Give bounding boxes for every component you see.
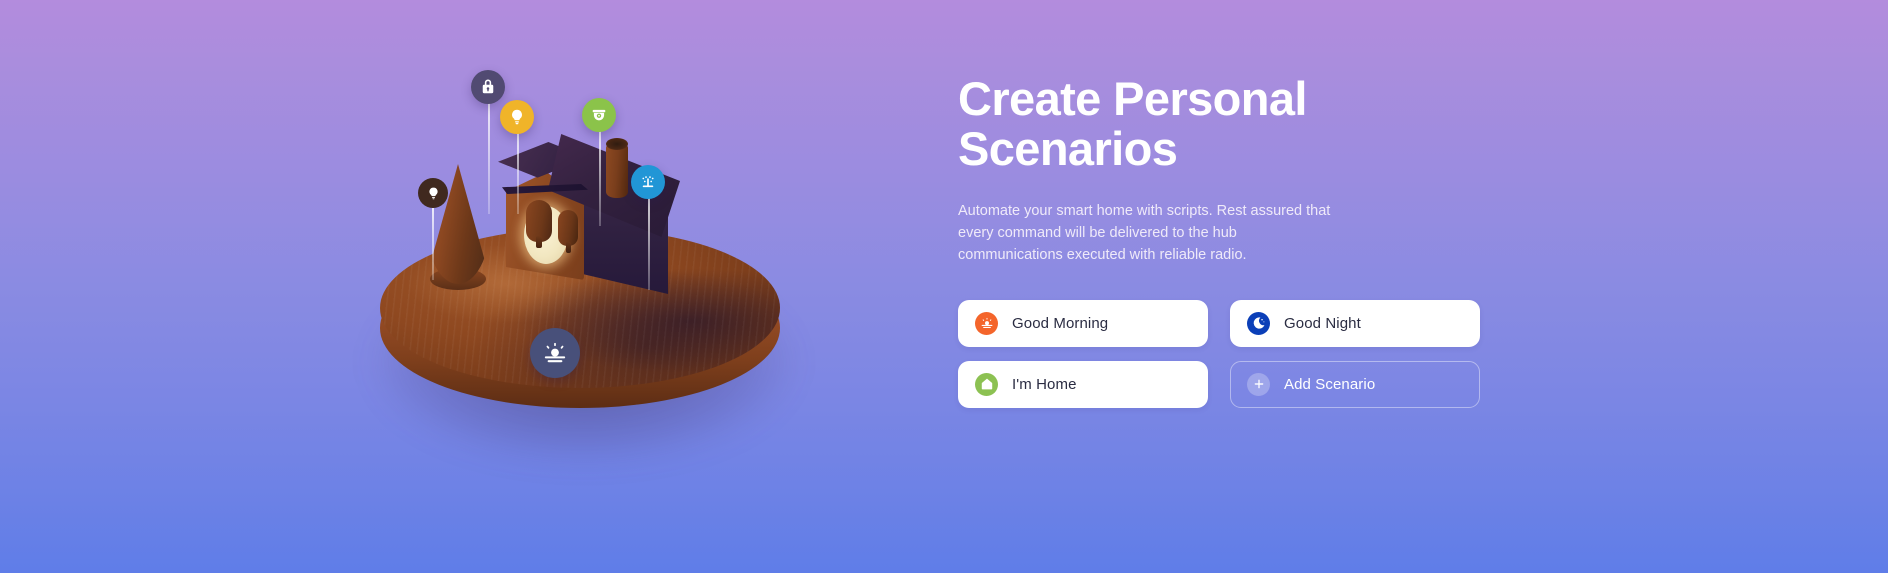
scenario-add[interactable]: Add Scenario bbox=[1230, 361, 1480, 408]
scenario-label: Good Night bbox=[1284, 315, 1361, 332]
scenario-label: Add Scenario bbox=[1284, 376, 1375, 393]
plus-icon bbox=[1247, 373, 1270, 396]
lock-icon bbox=[479, 78, 497, 96]
moon-icon bbox=[1247, 312, 1270, 335]
bush-large-trunk bbox=[536, 236, 542, 248]
scenario-good-night[interactable]: Good Night bbox=[1230, 300, 1480, 347]
house-icon bbox=[975, 373, 998, 396]
scenario-im-home[interactable]: I'm Home bbox=[958, 361, 1208, 408]
hero-section: Create Personal Scenarios Automate your … bbox=[0, 0, 1888, 573]
marker-smart-light[interactable] bbox=[500, 100, 534, 134]
marker-stem-treebulb bbox=[432, 208, 434, 280]
page-title: Create Personal Scenarios bbox=[958, 74, 1518, 174]
wifi-hub-icon bbox=[639, 173, 657, 191]
bulb-icon bbox=[426, 186, 441, 201]
scenario-label: I'm Home bbox=[1012, 376, 1077, 393]
bush-small bbox=[558, 210, 578, 246]
chimney bbox=[606, 142, 628, 198]
scenario-list: Good Morning Good Night bbox=[958, 300, 1480, 408]
sunrise-icon bbox=[975, 312, 998, 335]
camera-icon bbox=[590, 106, 608, 124]
marker-door-lock[interactable] bbox=[471, 70, 505, 104]
marker-garden-light[interactable] bbox=[418, 178, 448, 208]
bush-small-trunk bbox=[566, 242, 571, 253]
page-subtitle: Automate your smart home with scripts. R… bbox=[958, 200, 1340, 266]
marker-stem-bulb bbox=[517, 132, 519, 214]
smart-home-illustration bbox=[380, 48, 800, 448]
scenario-good-morning[interactable]: Good Morning bbox=[958, 300, 1208, 347]
marker-stem-camera bbox=[599, 130, 601, 226]
marker-stem-lock bbox=[488, 102, 490, 214]
bulb-icon bbox=[508, 108, 526, 126]
marker-security-camera[interactable] bbox=[582, 98, 616, 132]
chimney-opening bbox=[606, 138, 628, 150]
marker-morning-scenario[interactable] bbox=[530, 328, 580, 378]
marker-stem-wifi bbox=[648, 196, 650, 290]
illustration-scene bbox=[380, 48, 800, 448]
marker-hub[interactable] bbox=[631, 165, 665, 199]
scenario-label: Good Morning bbox=[1012, 315, 1108, 332]
sunrise-icon bbox=[542, 340, 568, 366]
hero-content: Create Personal Scenarios Automate your … bbox=[958, 74, 1518, 408]
